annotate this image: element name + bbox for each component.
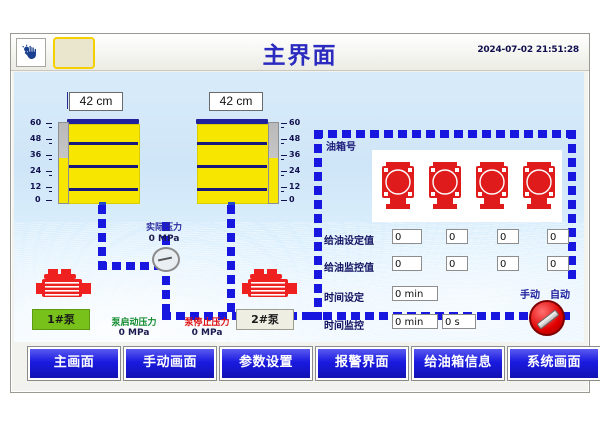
valve-group (372, 150, 562, 222)
tank-1-tick-label: 0 (35, 195, 41, 204)
tank-2-level-gauge (268, 122, 279, 204)
oil-monitor-value-label: 给油监控值 (324, 259, 374, 274)
pressure-gauge-icon (152, 247, 180, 272)
pump-stop-pressure-value: 0 MPa (172, 328, 242, 338)
oil-set-input-2[interactable]: 0 (446, 229, 468, 244)
pump-2-icon (242, 267, 300, 301)
tank-1-tick-label: 36 (30, 150, 41, 159)
mode-rotary-switch[interactable] (529, 300, 565, 336)
time-setting-input[interactable]: 0 min (392, 286, 438, 301)
tank-1-tick-label: 60 (30, 118, 41, 127)
application-window: 主界面 2024-07-02 21:51:28 42 cm (10, 33, 590, 393)
oil-set-input-1[interactable]: 0 (392, 229, 422, 244)
time-setting-label: 时间设定 (324, 289, 364, 304)
pump-start-pressure-value: 0 MPa (99, 328, 169, 338)
nav-button-manual-screen[interactable]: 手动画面 (124, 347, 216, 380)
process-canvas: 42 cm 60 48 36 24 12 0 (14, 72, 584, 342)
title-bar: 主界面 2024-07-02 21:51:28 (11, 34, 589, 71)
oil-monitor-input-4[interactable]: 0 (547, 256, 569, 271)
pump-1-button[interactable]: 1#泵 (32, 309, 90, 330)
tank-2-tick-label: 24 (289, 166, 300, 175)
pump-stop-pressure-label: 泵停止压力 (172, 315, 242, 328)
manual-mode-label: 手动 (520, 286, 540, 301)
tank-2-rib (197, 142, 267, 145)
tank-1-level-gauge (58, 122, 69, 204)
time-monitor-label: 时间监控 (324, 317, 364, 332)
tank-1-scale: 60 48 36 24 12 0 (30, 122, 56, 202)
oil-set-value-label: 给油设定值 (324, 232, 374, 247)
pipe-tank2-down (227, 205, 235, 313)
tank-2-tick-label: 0 (289, 195, 295, 204)
pipe-tank1-down (98, 205, 106, 270)
valve-icon-4[interactable] (521, 160, 557, 214)
tank-1-rib (68, 165, 138, 168)
tank-2-scale: 60 48 36 24 12 0 (279, 122, 305, 202)
panel-frame-left (314, 130, 322, 320)
nav-button-parameter-settings[interactable]: 参数设置 (220, 347, 312, 380)
oil-monitor-input-2[interactable]: 0 (446, 256, 468, 271)
nav-button-system-screen[interactable]: 系统画面 (508, 347, 600, 380)
pump-1-icon (36, 267, 94, 301)
oil-tank-number-label: 油箱号 (326, 138, 356, 153)
tank-2-tick-label: 12 (289, 182, 300, 191)
tank-2-tick-label: 60 (289, 118, 300, 127)
oil-monitor-input-3[interactable]: 0 (497, 256, 519, 271)
tank-2-level-fill (269, 158, 278, 203)
tank-1-dim-tick-left (67, 92, 68, 109)
tank-1-level-readout: 42 cm (69, 92, 123, 111)
time-monitor-minutes[interactable]: 0 min (392, 314, 438, 329)
tank-2-body (197, 124, 269, 204)
pump-2-button[interactable]: 2#泵 (236, 309, 294, 330)
valve-icon-1[interactable] (380, 160, 416, 214)
auto-mode-label: 自动 (550, 286, 570, 301)
panel-frame-right (568, 130, 576, 280)
time-monitor-seconds[interactable]: 0 s (442, 314, 476, 329)
tank-1-tick-label: 48 (30, 134, 41, 143)
nav-button-main-screen[interactable]: 主画面 (28, 347, 120, 380)
tank-1-body (68, 124, 140, 204)
bottom-navigation: 主画面 手动画面 参数设置 报警界面 给油箱信息 系统画面 (14, 344, 584, 388)
tank-1-rib (68, 142, 138, 145)
pump-start-pressure-label: 泵启动压力 (99, 315, 169, 328)
actual-pressure-label: 实际压力 (134, 220, 194, 233)
tank-1-rib (68, 188, 138, 191)
tank-1-tick-label: 12 (30, 182, 41, 191)
valve-icon-2[interactable] (427, 160, 463, 214)
valve-icon-3[interactable] (474, 160, 510, 214)
nav-button-oil-tank-info[interactable]: 给油箱信息 (412, 347, 504, 380)
tank-1-level-fill (59, 158, 68, 203)
nav-button-alarm-screen[interactable]: 报警界面 (316, 347, 408, 380)
actual-pressure-value: 0 MPa (134, 234, 194, 244)
oil-set-input-3[interactable]: 0 (497, 229, 519, 244)
tank-2-tick-label: 36 (289, 150, 300, 159)
tank-2-level-readout: 42 cm (209, 92, 263, 111)
panel-frame-top (314, 130, 576, 138)
tank-2-rib (197, 165, 267, 168)
hmi-screen: 主界面 2024-07-02 21:51:28 42 cm (0, 0, 600, 433)
oil-monitor-input-1[interactable]: 0 (392, 256, 422, 271)
tank-2-tick-label: 48 (289, 134, 300, 143)
tank-1-tick-label: 24 (30, 166, 41, 175)
oil-set-input-4[interactable]: 0 (547, 229, 569, 244)
timestamp: 2024-07-02 21:51:28 (477, 45, 579, 55)
tank-2-rib (197, 188, 267, 191)
